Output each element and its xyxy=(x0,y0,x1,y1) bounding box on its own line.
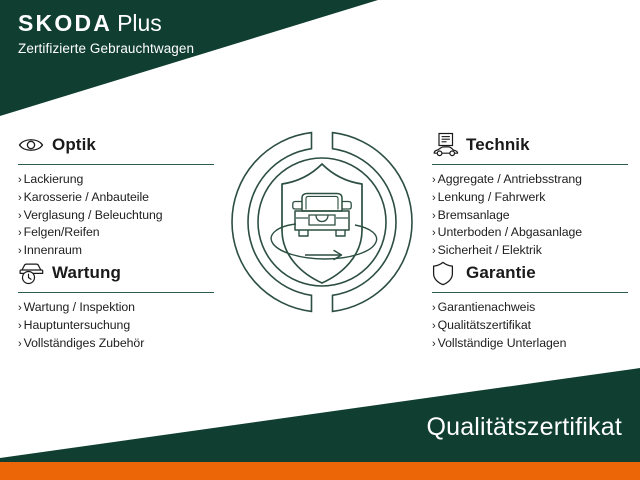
list-item-label: Lackierung xyxy=(24,172,84,186)
chevron-icon: › xyxy=(18,210,22,222)
section-optik-list: ›Lackierung ›Karosserie / Anbauteile ›Ve… xyxy=(18,171,214,260)
list-item: ›Felgen/Reifen xyxy=(18,224,214,242)
shield-icon xyxy=(432,260,460,286)
chevron-icon: › xyxy=(18,174,22,186)
accent-bar xyxy=(0,462,640,480)
chevron-icon: › xyxy=(18,227,22,239)
list-item-label: Felgen/Reifen xyxy=(24,225,100,239)
section-wartung-list: ›Wartung / Inspektion ›Hauptuntersuchung… xyxy=(18,299,214,352)
list-item-label: Vollständige Unterlagen xyxy=(438,336,567,350)
list-item: ›Unterboden / Abgasanlage xyxy=(432,224,628,242)
list-item-label: Wartung / Inspektion xyxy=(24,300,135,314)
footer-title: Qualitätszertifikat xyxy=(426,413,622,442)
section-garantie-list: ›Garantienachweis ›Qualitätszertifikat ›… xyxy=(432,299,628,352)
list-item-label: Verglasung / Beleuchtung xyxy=(24,208,163,222)
chevron-icon: › xyxy=(432,245,436,257)
list-item: ›Hauptuntersuchung xyxy=(18,317,214,335)
list-item-label: Hauptuntersuchung xyxy=(24,318,130,332)
certified-vehicle-emblem xyxy=(228,126,416,318)
list-item: ›Aggregate / Antriebsstrang xyxy=(432,171,628,189)
section-wartung-divider xyxy=(18,292,214,293)
section-optik-divider xyxy=(18,164,214,165)
chevron-icon: › xyxy=(432,210,436,222)
brand-tagline: Zertifizierte Gebrauchtwagen xyxy=(18,42,194,56)
list-item: ›Vollständiges Zubehör xyxy=(18,335,214,353)
list-item-label: Sicherheit / Elektrik xyxy=(438,243,542,257)
list-item: ›Garantienachweis xyxy=(432,299,628,317)
chevron-icon: › xyxy=(18,192,22,204)
section-technik-title: Technik xyxy=(466,135,530,155)
section-optik-header: Optik xyxy=(18,130,214,160)
list-item: ›Lenkung / Fahrwerk xyxy=(432,189,628,207)
section-wartung-header: Wartung xyxy=(18,258,214,288)
section-technik-divider xyxy=(432,164,628,165)
certificate-page: SKODAPlus Zertifizierte Gebrauchtwagen O… xyxy=(0,0,640,480)
car-service-icon xyxy=(18,260,46,286)
section-optik: Optik ›Lackierung ›Karosserie / Anbautei… xyxy=(18,130,214,260)
list-item: ›Wartung / Inspektion xyxy=(18,299,214,317)
list-item-label: Garantienachweis xyxy=(438,300,536,314)
chevron-icon: › xyxy=(432,302,436,314)
section-technik-list: ›Aggregate / Antriebsstrang ›Lenkung / F… xyxy=(432,171,628,260)
chevron-icon: › xyxy=(432,320,436,332)
section-wartung: Wartung ›Wartung / Inspektion ›Hauptunte… xyxy=(18,258,214,352)
section-garantie-title: Garantie xyxy=(466,263,536,283)
list-item-label: Unterboden / Abgasanlage xyxy=(438,225,582,239)
list-item-label: Qualitätszertifikat xyxy=(438,318,531,332)
section-garantie-divider xyxy=(432,292,628,293)
list-item: ›Qualitätszertifikat xyxy=(432,317,628,335)
car-document-icon xyxy=(432,132,460,158)
list-item-label: Vollständiges Zubehör xyxy=(24,336,145,350)
list-item: ›Lackierung xyxy=(18,171,214,189)
section-technik-header: Technik xyxy=(432,130,628,160)
brand-name: SKODA xyxy=(18,10,112,36)
list-item-label: Bremsanlage xyxy=(438,208,510,222)
brand-suffix: Plus xyxy=(117,10,162,36)
list-item-label: Aggregate / Antriebsstrang xyxy=(438,172,582,186)
chevron-icon: › xyxy=(18,338,22,350)
chevron-icon: › xyxy=(432,174,436,186)
section-optik-title: Optik xyxy=(52,135,96,155)
chevron-icon: › xyxy=(432,192,436,204)
list-item-label: Karosserie / Anbauteile xyxy=(24,190,149,204)
section-technik: Technik ›Aggregate / Antriebsstrang ›Len… xyxy=(432,130,628,260)
list-item: ›Verglasung / Beleuchtung xyxy=(18,207,214,225)
list-item-label: Innenraum xyxy=(24,243,82,257)
chevron-icon: › xyxy=(18,245,22,257)
chevron-icon: › xyxy=(432,227,436,239)
chevron-icon: › xyxy=(432,338,436,350)
chevron-icon: › xyxy=(18,320,22,332)
list-item: ›Vollständige Unterlagen xyxy=(432,335,628,353)
brand-logo: SKODAPlus Zertifizierte Gebrauchtwagen xyxy=(18,12,194,56)
section-garantie: Garantie ›Garantienachweis ›Qualitätszer… xyxy=(432,258,628,352)
section-wartung-title: Wartung xyxy=(52,263,121,283)
eye-icon xyxy=(18,132,46,158)
list-item: ›Karosserie / Anbauteile xyxy=(18,189,214,207)
section-garantie-header: Garantie xyxy=(432,258,628,288)
list-item-label: Lenkung / Fahrwerk xyxy=(438,190,546,204)
chevron-icon: › xyxy=(18,302,22,314)
list-item: ›Bremsanlage xyxy=(432,207,628,225)
brand-title: SKODAPlus xyxy=(18,12,194,35)
